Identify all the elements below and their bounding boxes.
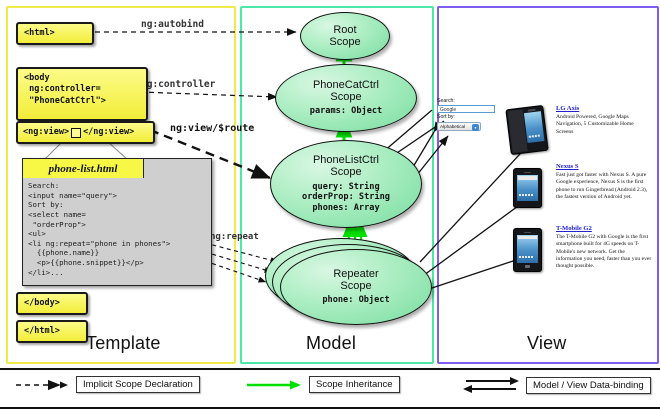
phone-entry-nexus-s: Nexus S Fast just got faster with Nexus … bbox=[556, 163, 652, 201]
phone-snippet: Fast just got faster with Nexus S. A pur… bbox=[556, 172, 652, 201]
search-form: Search: Google Sort by: Alphabetical ▾ bbox=[437, 99, 499, 139]
scope-repeater-props: phone: Object bbox=[322, 295, 389, 306]
label-ng-repeat: ng:repeat bbox=[210, 232, 259, 242]
scope-repeater: Repeater Scope phone: Object bbox=[280, 249, 432, 325]
tag-ngview-open: <ng:view> bbox=[23, 127, 69, 138]
phone-name-link[interactable]: T-Mobile G2 bbox=[556, 225, 652, 232]
tag-body-open: <body ng:controller= "PhoneCatCtrl"> bbox=[16, 67, 148, 121]
tag-ngview-close: </ng:view> bbox=[83, 127, 134, 138]
legend-label: Implicit Scope Declaration bbox=[76, 376, 200, 393]
callout-title: phone-list.html bbox=[22, 158, 144, 179]
tag-html-close: </html> bbox=[16, 320, 88, 343]
scope-root: Root Scope bbox=[300, 12, 390, 60]
search-input[interactable]: Google bbox=[437, 105, 495, 113]
phone-entry-lg-axis: LG Axis Android Powered, Google Maps Nav… bbox=[556, 105, 652, 136]
scope-phonecatctrl-title: PhoneCatCtrl Scope bbox=[313, 79, 379, 104]
legend-item-data-binding: Model / View Data-binding bbox=[462, 376, 651, 394]
scope-phonelistctrl-title: PhoneListCtrl Scope bbox=[313, 154, 379, 179]
legend-label: Model / View Data-binding bbox=[526, 377, 651, 394]
scope-root-title: Root Scope bbox=[329, 24, 360, 49]
label-ng-controller: ng:controller bbox=[141, 79, 215, 90]
label-ng-view-route: ng:view/$route bbox=[170, 123, 254, 134]
sort-label: Sort by: bbox=[437, 115, 499, 121]
tag-body-close: </body> bbox=[16, 292, 88, 315]
phone-image-tmobile-g2 bbox=[513, 228, 542, 272]
tag-html-open: <html> bbox=[16, 22, 94, 45]
dashed-arrow-icon bbox=[14, 378, 70, 392]
ngview-placeholder-icon bbox=[71, 128, 81, 138]
scope-phonecatctrl: PhoneCatCtrl Scope params: Object bbox=[275, 64, 417, 132]
legend-label: Scope Inheritance bbox=[309, 376, 400, 393]
scope-repeater-title: Repeater Scope bbox=[333, 268, 378, 293]
callout-code: Search: <input name="query"> Sort by: <s… bbox=[23, 178, 209, 283]
scope-phonelistctrl-props: query: String orderProp: String phones: … bbox=[302, 182, 390, 214]
sort-select-value: Alphabetical bbox=[440, 124, 465, 129]
phone-snippet: The T-Mobile G2 with Google is the first… bbox=[556, 234, 652, 270]
phone-name-link[interactable]: Nexus S bbox=[556, 163, 652, 170]
scope-phonecatctrl-props: params: Object bbox=[310, 106, 382, 117]
phone-image-nexus-s bbox=[513, 168, 542, 208]
phone-snippet: Android Powered, Google Maps Navigation,… bbox=[556, 114, 652, 136]
column-label-model: Model bbox=[306, 333, 356, 354]
scope-phonelistctrl: PhoneListCtrl Scope query: String orderP… bbox=[270, 140, 422, 228]
double-arrow-icon bbox=[462, 376, 520, 394]
column-label-template: Template bbox=[86, 333, 161, 354]
phone-name-link[interactable]: LG Axis bbox=[556, 105, 652, 112]
label-ng-autobind: ng:autobind bbox=[141, 19, 204, 30]
chevron-down-icon: ▾ bbox=[472, 124, 479, 131]
legend: Implicit Scope Declaration Scope Inherit… bbox=[0, 368, 660, 409]
column-label-view: View bbox=[527, 333, 567, 354]
green-arrow-icon bbox=[245, 378, 303, 392]
legend-item-implicit-scope: Implicit Scope Declaration bbox=[14, 376, 200, 393]
diagram-canvas: ng:autobind ng:controller ng:view/$route… bbox=[0, 0, 660, 405]
phone-image-lg-axis bbox=[508, 107, 546, 153]
phone-entry-tmobile-g2: T-Mobile G2 The T-Mobile G2 with Google … bbox=[556, 225, 652, 270]
sort-select[interactable]: Alphabetical ▾ bbox=[437, 122, 481, 131]
legend-item-scope-inheritance: Scope Inheritance bbox=[245, 376, 400, 393]
tag-ngview: <ng:view></ng:view> bbox=[16, 121, 155, 144]
